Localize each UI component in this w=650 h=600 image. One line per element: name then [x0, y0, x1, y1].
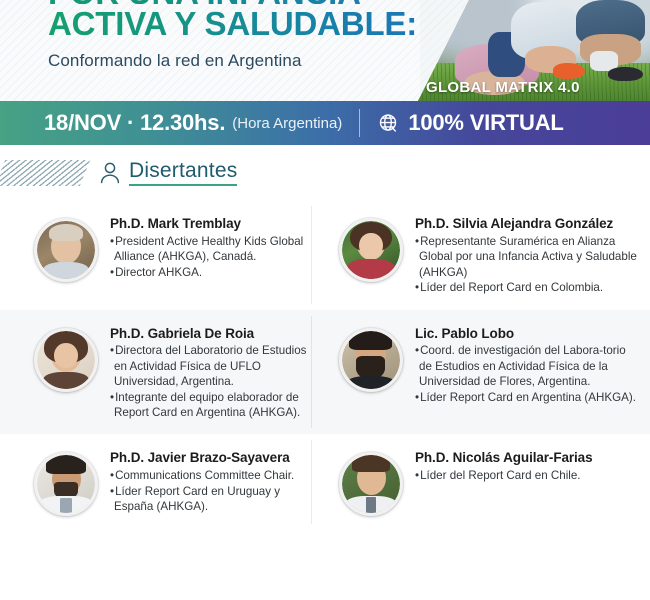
title-line-2: ACTIVA Y SALUDABLE: — [48, 6, 470, 42]
speaker-bullet: Líder del Report Card en Chile. — [415, 468, 640, 483]
speaker-info: Ph.D. Nicolás Aguilar-Farias Líder del R… — [415, 450, 640, 483]
webinar-poster: GLOBAL MATRIX 4.0 POR UNA INFANCIA ACTIV… — [0, 0, 650, 600]
speaker-row: Ph.D. Gabriela De Roia Directora del Lab… — [0, 310, 650, 435]
speaker-row: Ph.D. Mark Tremblay President Active Hea… — [0, 200, 650, 310]
date-bar-divider — [359, 109, 360, 137]
speaker-name: Ph.D. Gabriela De Roia — [110, 326, 315, 343]
speaker-info: Ph.D. Gabriela De Roia Directora del Lab… — [110, 326, 315, 421]
speaker-bullet: Líder Report Card en Uruguay y España (A… — [110, 484, 315, 515]
speaker-bullets: Coord. de investigación del Labora-torio… — [415, 343, 640, 405]
speaker-card[interactable]: Ph.D. Gabriela De Roia Directora del Lab… — [0, 310, 325, 435]
speaker-bullets: Representante Suramérica en Alianza Glob… — [415, 234, 640, 296]
speaker-bullets: President Active Healthy Kids Global All… — [110, 234, 315, 280]
speaker-bullet: Communications Committee Chair. — [110, 468, 315, 483]
speaker-name: Ph.D. Nicolás Aguilar-Farias — [415, 450, 640, 467]
avatar — [339, 328, 403, 392]
photo-caption: GLOBAL MATRIX 4.0 — [426, 79, 646, 96]
speaker-bullet: Coord. de investigación del Labora-torio… — [415, 343, 640, 389]
speaker-bullet: Representante Suramérica en Alianza Glob… — [415, 234, 640, 280]
speaker-bullet: Líder Report Card en Argentina (AHKGA). — [415, 390, 640, 405]
speaker-bullets: Communications Committee Chair. Líder Re… — [110, 468, 315, 514]
speaker-info: Lic. Pablo Lobo Coord. de investigación … — [415, 326, 640, 406]
speaker-bullet: Integrante del equipo elaborador de Repo… — [110, 390, 315, 421]
column-divider — [311, 206, 312, 304]
event-timezone: (Hora Argentina) — [232, 115, 342, 132]
speaker-info: Ph.D. Mark Tremblay President Active Hea… — [110, 216, 315, 280]
speaker-bullet: Directora del Laboratorio de Estudios en… — [110, 343, 315, 389]
speaker-card[interactable]: Lic. Pablo Lobo Coord. de investigación … — [325, 310, 650, 435]
section-title: Disertantes — [129, 159, 237, 186]
event-date-bar: 18/NOV · 12.30hs. (Hora Argentina) 100% … — [0, 101, 650, 145]
poster-header: GLOBAL MATRIX 4.0 POR UNA INFANCIA ACTIV… — [0, 0, 650, 101]
header-title-block: POR UNA INFANCIA ACTIVA Y SALUDABLE: Con… — [0, 0, 470, 71]
avatar — [34, 452, 98, 516]
virtual-label: 100% VIRTUAL — [408, 110, 563, 136]
diagonal-hatch-icon — [0, 160, 90, 186]
speaker-bullets: Líder del Report Card en Chile. — [415, 468, 640, 483]
speaker-card[interactable]: Ph.D. Mark Tremblay President Active Hea… — [0, 200, 325, 310]
speakers-grid: Ph.D. Mark Tremblay President Active Hea… — [0, 200, 650, 530]
avatar — [339, 218, 403, 282]
photo-shoe-orange — [553, 63, 585, 79]
speaker-name: Ph.D. Mark Tremblay — [110, 216, 315, 233]
header-subtitle: Conformando la red en Argentina — [48, 51, 470, 71]
avatar — [34, 218, 98, 282]
column-divider — [311, 440, 312, 524]
speaker-card[interactable]: Ph.D. Javier Brazo-Sayavera Communicatio… — [0, 434, 325, 530]
speaker-bullet: Líder del Report Card en Colombia. — [415, 280, 640, 295]
person-icon — [99, 161, 121, 185]
event-date: 18/NOV · 12.30hs. — [44, 110, 225, 136]
speaker-bullets: Directora del Laboratorio de Estudios en… — [110, 343, 315, 420]
speaker-info: Ph.D. Silvia Alejandra González Represen… — [415, 216, 640, 296]
speaker-name: Ph.D. Javier Brazo-Sayavera — [110, 450, 315, 467]
speaker-bullet: Director AHKGA. — [110, 265, 315, 280]
disertantes-section-header: Disertantes — [0, 145, 650, 200]
speaker-name: Lic. Pablo Lobo — [415, 326, 640, 343]
avatar — [34, 328, 98, 392]
speaker-card[interactable]: Ph.D. Nicolás Aguilar-Farias Líder del R… — [325, 434, 650, 530]
globe-icon — [377, 112, 399, 134]
column-divider — [311, 316, 312, 429]
speaker-info: Ph.D. Javier Brazo-Sayavera Communicatio… — [110, 450, 315, 514]
title-line-1: POR UNA INFANCIA — [48, 0, 470, 4]
speaker-name: Ph.D. Silvia Alejandra González — [415, 216, 640, 233]
speaker-card[interactable]: Ph.D. Silvia Alejandra González Represen… — [325, 200, 650, 310]
avatar — [339, 452, 403, 516]
speaker-bullet: President Active Healthy Kids Global All… — [110, 234, 315, 265]
speaker-row: Ph.D. Javier Brazo-Sayavera Communicatio… — [0, 434, 650, 530]
